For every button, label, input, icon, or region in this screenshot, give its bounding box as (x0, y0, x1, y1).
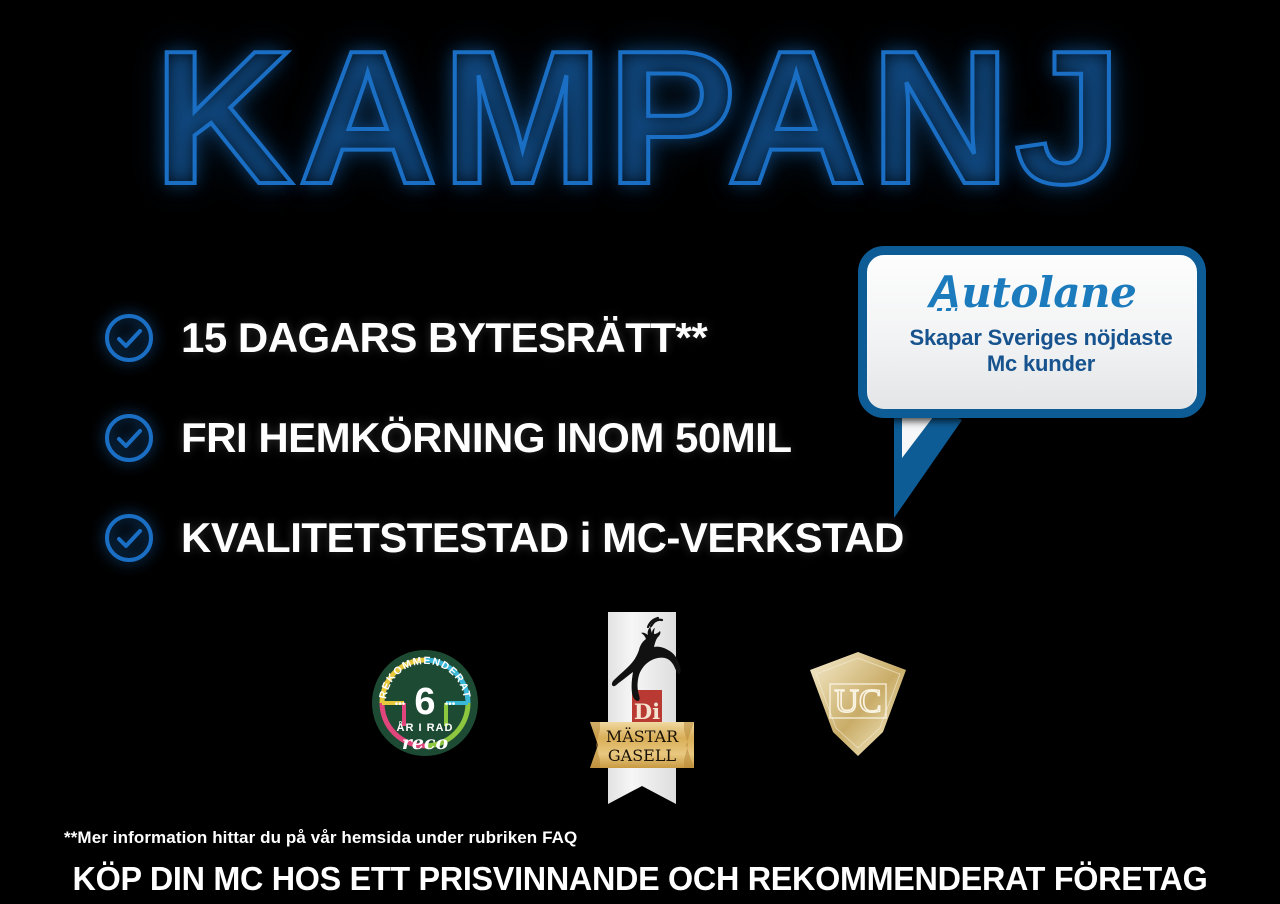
check-circle-icon (103, 512, 155, 564)
benefits-checklist: 15 DAGARS BYTESRÄTT** FRI HEMKÖRNING INO… (103, 288, 903, 588)
di-mastar-gasell-badge: Di MÄSTAR GASELL (588, 608, 696, 818)
autolane-logo-rest: utolane (961, 268, 1136, 317)
svg-text:Di: Di (634, 699, 660, 724)
autolane-tagline-line1: Skapar Sveriges nöjdaste (877, 325, 1205, 351)
autolane-logo: Autolane (867, 269, 1197, 315)
autolane-speech-bubble: Autolane Skapar Sveriges nöjdaste Mc kun… (858, 246, 1206, 478)
list-item-label: 15 DAGARS BYTESRÄTT** (181, 316, 707, 360)
list-item: 15 DAGARS BYTESRÄTT** (103, 288, 903, 388)
svg-text:MÄSTAR: MÄSTAR (606, 726, 679, 746)
svg-text:•••: ••• (445, 699, 456, 710)
uc-shield-badge: UC (805, 648, 911, 760)
svg-text:•••: ••• (395, 699, 406, 710)
svg-text:GASELL: GASELL (608, 746, 677, 765)
list-item-label: KVALITETSTESTAD i MC-VERKSTAD (181, 516, 904, 560)
svg-text:6: 6 (414, 681, 435, 723)
footer-tagline: KÖP DIN MC HOS ETT PRISVINNANDE OCH REKO… (13, 860, 1267, 898)
speech-bubble-body: Autolane Skapar Sveriges nöjdaste Mc kun… (858, 246, 1206, 418)
svg-text:reco: reco (402, 732, 449, 754)
award-badges-row: REKOMMENDERAT ••• ••• 6 ÅR I RAD reco (0, 600, 1280, 820)
check-circle-icon (103, 312, 155, 364)
autolane-logo-a: A (928, 265, 962, 317)
page-title: KAMPANJ (0, 18, 1280, 218)
footnote: **Mer information hittar du på vår hemsi… (64, 828, 577, 848)
check-circle-icon (103, 412, 155, 464)
campaign-banner: KAMPANJ 15 DAGARS BYTESRÄTT** FRI HEMKÖR… (0, 0, 1280, 904)
list-item: FRI HEMKÖRNING INOM 50MIL (103, 388, 903, 488)
autolane-tagline-line2: Mc kunder (877, 351, 1205, 377)
autolane-tagline: Skapar Sveriges nöjdaste Mc kunder (877, 325, 1205, 377)
reco-badge: REKOMMENDERAT ••• ••• 6 ÅR I RAD reco (370, 648, 480, 758)
list-item: KVALITETSTESTAD i MC-VERKSTAD (103, 488, 903, 588)
list-item-label: FRI HEMKÖRNING INOM 50MIL (181, 416, 792, 460)
svg-text:UC: UC (834, 683, 881, 720)
